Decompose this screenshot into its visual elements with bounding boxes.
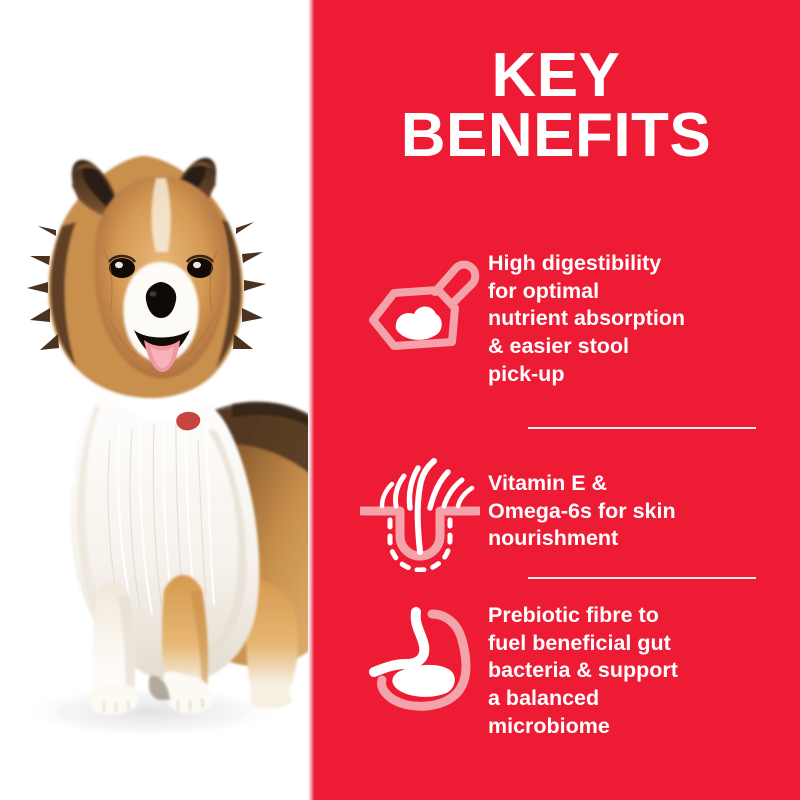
divider-after-benefit-1 xyxy=(528,427,756,429)
benefit-item-2: Vitamin E & Omega-6s for skin nourishmen… xyxy=(360,452,800,572)
divider-after-benefit-2 xyxy=(528,577,756,579)
benefit-text-1: High digestibility for optimal nutrient … xyxy=(488,246,800,389)
panel-separator xyxy=(308,0,314,800)
hair-follicle-icon xyxy=(360,452,480,572)
sheltie-dog-photo xyxy=(0,0,312,800)
benefits-panel: KEY BENEFITS High digestibility for opti… xyxy=(312,0,800,800)
benefit-item-1: High digestibility for optimal nutrient … xyxy=(360,246,800,389)
key-benefits-graphic: KEY BENEFITS High digestibility for opti… xyxy=(0,0,800,800)
benefit-text-3: Prebiotic fibre to fuel beneficial gut b… xyxy=(488,600,800,741)
benefit-item-3: Prebiotic fibre to fuel beneficial gut b… xyxy=(360,600,800,741)
page-title: KEY BENEFITS xyxy=(312,46,800,166)
dog-photo-panel xyxy=(0,0,312,800)
stomach-icon xyxy=(360,600,480,720)
benefit-text-2: Vitamin E & Omega-6s for skin nourishmen… xyxy=(488,452,800,553)
pooper-scooper-icon xyxy=(360,246,480,366)
